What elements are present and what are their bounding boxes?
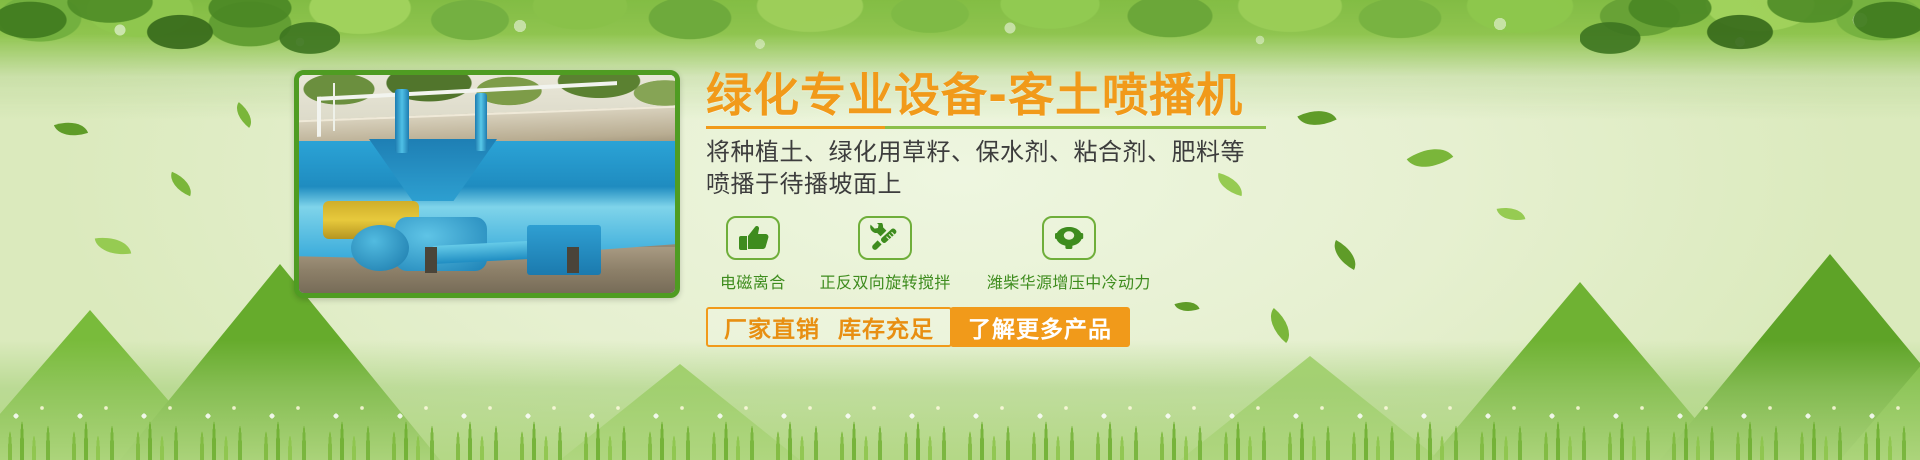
feature-label: 潍柴华源增压中冷动力 bbox=[987, 269, 1151, 293]
photo-railing-post bbox=[333, 83, 335, 131]
photo-machine-tank bbox=[527, 225, 601, 275]
feature-item-bidirectional-mixing: 正反双向旋转搅拌 bbox=[820, 216, 951, 293]
feature-item-weichai-power: 潍柴华源增压中冷动力 bbox=[987, 216, 1151, 293]
wrench-screwdriver-icon bbox=[858, 216, 912, 260]
top-left-leaf-cluster-icon bbox=[0, 0, 340, 110]
leaf-icon bbox=[166, 172, 196, 197]
photo-machine-leg bbox=[425, 247, 437, 273]
product-photo bbox=[294, 70, 680, 298]
photo-machine-pipe bbox=[475, 93, 487, 151]
call-to-action-row: 厂家直销 库存充足 了解更多产品 bbox=[706, 307, 1856, 347]
page-title: 绿化专业设备-客土喷播机 bbox=[706, 70, 1856, 122]
selling-point-left: 厂家直销 bbox=[724, 310, 820, 344]
photo-machine-pump bbox=[351, 225, 409, 271]
feature-label: 正反双向旋转搅拌 bbox=[820, 269, 951, 293]
learn-more-button[interactable]: 了解更多产品 bbox=[950, 307, 1130, 347]
selling-point-right: 库存充足 bbox=[838, 310, 934, 344]
learn-more-button-label: 了解更多产品 bbox=[968, 310, 1112, 344]
title-underline bbox=[706, 126, 1266, 129]
banner-content: 绿化专业设备-客土喷播机 将种植土、绿化用草籽、保水剂、粘合剂、肥料等 喷播于待… bbox=[706, 70, 1856, 347]
promo-banner: 绿化专业设备-客土喷播机 将种植土、绿化用草籽、保水剂、粘合剂、肥料等 喷播于待… bbox=[0, 0, 1920, 460]
product-photo-image bbox=[299, 75, 675, 293]
feature-item-electromagnetic-clutch: 电磁离合 bbox=[720, 216, 786, 293]
subtitle-line-1: 将种植土、绿化用草籽、保水剂、粘合剂、肥料等 bbox=[706, 136, 1856, 168]
selling-point-tag: 厂家直销 库存充足 bbox=[706, 307, 952, 347]
photo-machine-leg bbox=[567, 247, 579, 273]
subtitle-line-2: 喷播于待播坡面上 bbox=[706, 168, 1856, 200]
feature-label: 电磁离合 bbox=[720, 269, 786, 293]
thumbs-up-icon bbox=[726, 216, 780, 260]
engine-gear-icon bbox=[1042, 216, 1096, 260]
photo-machine-pipe bbox=[395, 89, 409, 153]
grass-tufts-decoration bbox=[0, 364, 1920, 460]
feature-list: 电磁离合 正反双向旋转搅拌 bbox=[706, 216, 1856, 293]
